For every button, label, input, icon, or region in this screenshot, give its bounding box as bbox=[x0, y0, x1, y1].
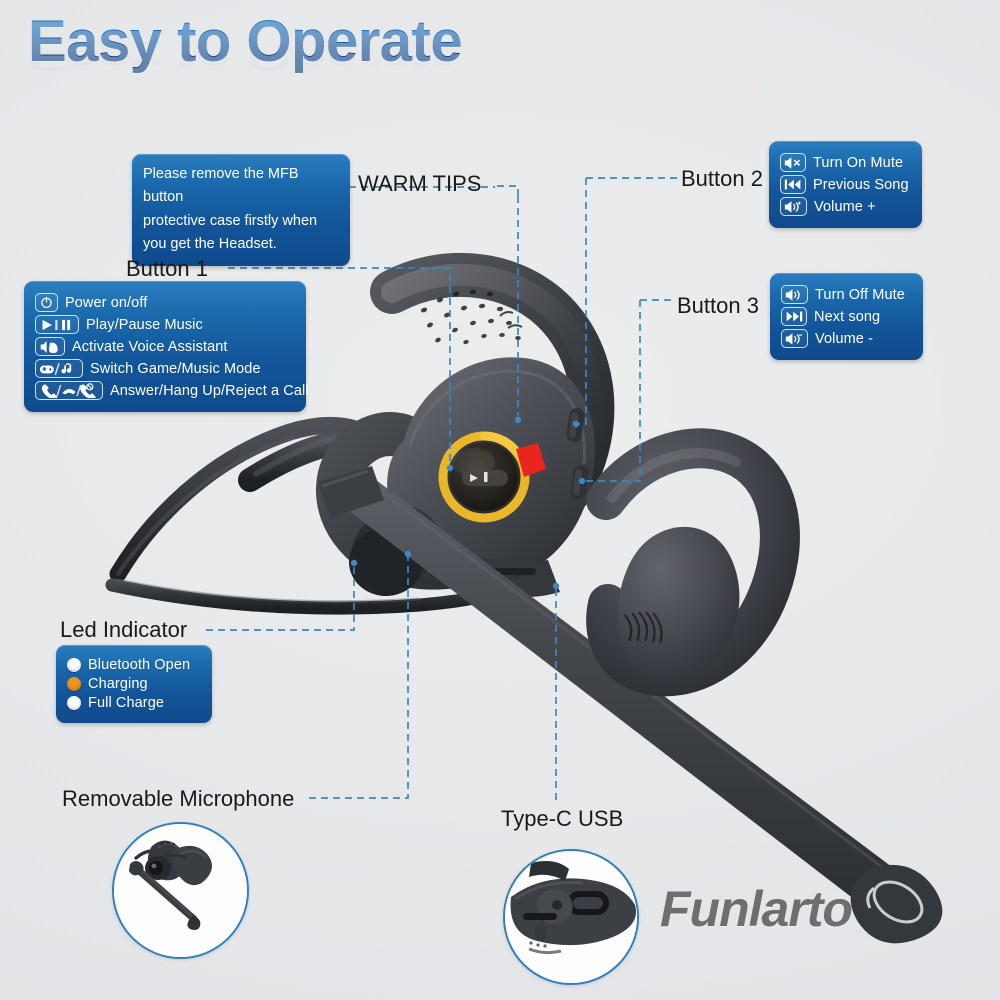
game-music-icon bbox=[35, 359, 83, 378]
infographic-canvas: Easy to Operate Easy to Operate bbox=[0, 0, 1000, 1000]
warm-tips-label: WARM TIPS bbox=[358, 171, 481, 197]
button1-label-voice: Activate Voice Assistant bbox=[72, 339, 228, 355]
warm-tips-note: Please remove the MFB button protective … bbox=[132, 154, 350, 266]
button3-row-volume-down: Volume - bbox=[781, 329, 912, 348]
volume-up-icon bbox=[780, 197, 807, 216]
led-dot-full-charge bbox=[67, 696, 81, 710]
button2-row-previous: Previous Song bbox=[780, 175, 911, 194]
callout-removable-microphone: Removable Microphone bbox=[62, 786, 294, 812]
button1-label-call: Answer/Hang Up/Reject a Call bbox=[110, 383, 309, 399]
mute-off-icon bbox=[781, 285, 808, 304]
led-row-bluetooth: Bluetooth Open bbox=[67, 657, 201, 673]
button2-label-mute-on: Turn On Mute bbox=[813, 155, 903, 171]
callout-type-c-usb: Type-C USB bbox=[501, 806, 623, 832]
button-3-panel: Turn Off Mute Next song Volume - bbox=[770, 273, 923, 360]
removable-microphone-inset bbox=[112, 822, 249, 959]
led-label-charging: Charging bbox=[88, 676, 148, 692]
button1-row-playpause: Play/Pause Music bbox=[35, 315, 295, 334]
mute-on-icon bbox=[780, 153, 806, 172]
led-label-bluetooth: Bluetooth Open bbox=[88, 657, 190, 673]
play-pause-icon bbox=[35, 315, 79, 334]
button2-label-volume-up: Volume + bbox=[814, 199, 876, 215]
power-icon bbox=[35, 293, 58, 312]
type-c-usb-inset bbox=[503, 849, 639, 985]
led-dot-bluetooth bbox=[67, 658, 81, 672]
brand-wordmark: Funlarto bbox=[660, 880, 852, 938]
button3-row-next: Next song bbox=[781, 307, 912, 326]
button1-row-gamemusic: Switch Game/Music Mode bbox=[35, 359, 295, 378]
callout-button-3: Button 3 bbox=[677, 293, 759, 319]
button3-label-next: Next song bbox=[814, 309, 880, 325]
button2-row-mute-on: Turn On Mute bbox=[780, 153, 911, 172]
led-label-full-charge: Full Charge bbox=[88, 695, 164, 711]
button1-row-power: Power on/off bbox=[35, 293, 295, 312]
button1-label-power: Power on/off bbox=[65, 295, 147, 311]
button3-label-volume-down: Volume - bbox=[815, 331, 873, 347]
button2-label-previous: Previous Song bbox=[813, 177, 909, 193]
led-indicator-panel: Bluetooth Open Charging Full Charge bbox=[56, 645, 212, 723]
warm-tips-line-1: Please remove the MFB button bbox=[143, 163, 339, 210]
voice-assistant-icon bbox=[35, 337, 65, 356]
button-1-panel: Power on/off Play/Pause Music Activate V… bbox=[24, 281, 306, 412]
callout-led-indicator: Led Indicator bbox=[60, 617, 187, 643]
button-2-panel: Turn On Mute Previous Song Volume + bbox=[769, 141, 922, 228]
volume-down-icon bbox=[781, 329, 808, 348]
button1-label-playpause: Play/Pause Music bbox=[86, 317, 203, 333]
warm-tips-line-2: protective case firstly when bbox=[143, 210, 339, 233]
led-row-charging: Charging bbox=[67, 676, 201, 692]
next-song-icon bbox=[781, 307, 807, 326]
button1-row-voice: Activate Voice Assistant bbox=[35, 337, 295, 356]
callout-button-2: Button 2 bbox=[681, 166, 763, 192]
button1-row-call: Answer/Hang Up/Reject a Call bbox=[35, 381, 295, 400]
button3-row-mute-off: Turn Off Mute bbox=[781, 285, 912, 304]
callout-button-1: Button 1 bbox=[126, 256, 208, 282]
button1-label-gamemusic: Switch Game/Music Mode bbox=[90, 361, 261, 377]
button3-label-mute-off: Turn Off Mute bbox=[815, 287, 905, 303]
previous-song-icon bbox=[780, 175, 806, 194]
warm-tips-line-3: you get the Headset. bbox=[143, 233, 339, 256]
led-row-full-charge: Full Charge bbox=[67, 695, 201, 711]
call-icon bbox=[35, 381, 103, 400]
button2-row-volume-up: Volume + bbox=[780, 197, 911, 216]
led-dot-charging bbox=[67, 677, 81, 691]
